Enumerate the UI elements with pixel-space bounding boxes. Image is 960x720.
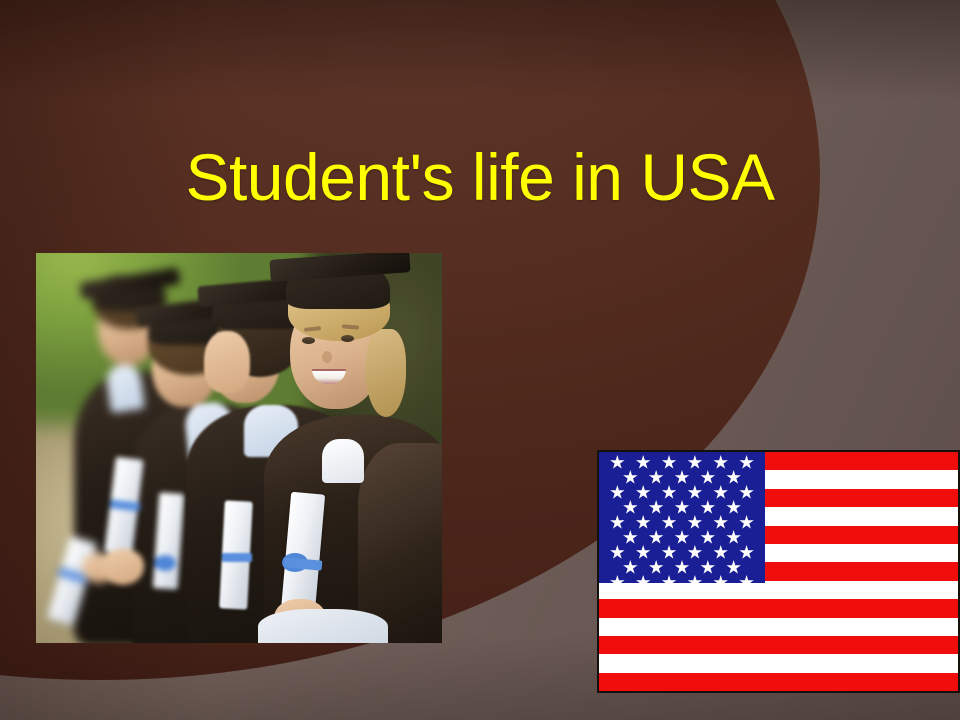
- star-icon: [726, 470, 741, 485]
- star-icon: [662, 455, 677, 470]
- star-icon: [649, 500, 664, 515]
- flag-star-field: [599, 452, 765, 583]
- star-icon: [610, 455, 625, 470]
- flag-star-row: [599, 545, 765, 560]
- graduates-photo: [36, 253, 442, 643]
- star-icon: [687, 545, 702, 560]
- star-icon: [713, 455, 728, 470]
- star-icon: [713, 515, 728, 530]
- presentation-slide: Student's life in USA: [0, 0, 960, 720]
- star-icon: [713, 485, 728, 500]
- flag-star-row: [599, 500, 765, 515]
- star-icon: [674, 470, 689, 485]
- flag-stripe: [599, 654, 958, 672]
- star-icon: [700, 530, 715, 545]
- star-icon: [662, 485, 677, 500]
- star-icon: [623, 500, 638, 515]
- star-icon: [674, 500, 689, 515]
- star-icon: [687, 485, 702, 500]
- flag-stripe: [599, 673, 958, 691]
- star-icon: [739, 515, 754, 530]
- star-icon: [636, 575, 651, 590]
- star-icon: [739, 455, 754, 470]
- star-icon: [662, 515, 677, 530]
- flag-stripe: [599, 636, 958, 654]
- flag-star-row: [599, 485, 765, 500]
- star-icon: [649, 530, 664, 545]
- star-icon: [610, 575, 625, 590]
- star-icon: [649, 560, 664, 575]
- photo-scene: [36, 253, 442, 643]
- star-icon: [674, 560, 689, 575]
- flag-star-row: [599, 560, 765, 575]
- united-states-flag: [597, 450, 960, 693]
- flag-star-row: [599, 455, 765, 470]
- flag-star-row: [599, 470, 765, 485]
- star-icon: [687, 575, 702, 590]
- star-icon: [636, 485, 651, 500]
- star-icon: [623, 470, 638, 485]
- star-icon: [662, 575, 677, 590]
- star-icon: [687, 455, 702, 470]
- star-icon: [649, 470, 664, 485]
- star-icon: [726, 500, 741, 515]
- star-icon: [623, 530, 638, 545]
- star-icon: [739, 575, 754, 590]
- star-icon: [713, 575, 728, 590]
- star-icon: [636, 455, 651, 470]
- star-icon: [636, 545, 651, 560]
- flag-canton: [599, 452, 765, 583]
- star-icon: [739, 485, 754, 500]
- flag-stripe: [599, 599, 958, 617]
- flag-star-row: [599, 530, 765, 545]
- slide-title: Student's life in USA: [0, 143, 960, 213]
- star-icon: [700, 470, 715, 485]
- star-icon: [610, 545, 625, 560]
- flag-star-row: [599, 515, 765, 530]
- star-icon: [687, 515, 702, 530]
- star-icon: [662, 545, 677, 560]
- star-icon: [726, 530, 741, 545]
- star-icon: [739, 545, 754, 560]
- flag-stripe: [599, 618, 958, 636]
- star-icon: [610, 515, 625, 530]
- star-icon: [636, 515, 651, 530]
- star-icon: [610, 485, 625, 500]
- star-icon: [623, 560, 638, 575]
- star-icon: [700, 500, 715, 515]
- star-icon: [674, 530, 689, 545]
- flag-star-row: [599, 575, 765, 590]
- star-icon: [726, 560, 741, 575]
- star-icon: [700, 560, 715, 575]
- star-icon: [713, 545, 728, 560]
